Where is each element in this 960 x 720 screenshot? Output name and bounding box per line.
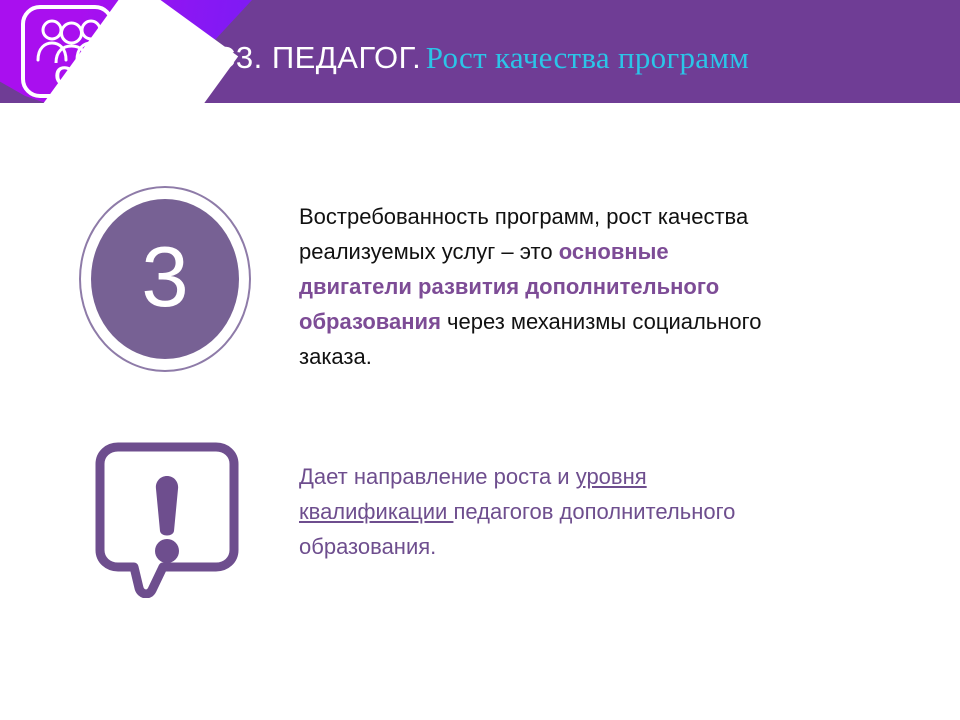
paragraph-2-run-1: Дает направление роста и — [299, 464, 576, 489]
slide-root: С3 С3. ПЕДАГОГ. Рост качества программ 3… — [0, 0, 960, 720]
page-title-main: С3. ПЕДАГОГ. — [213, 40, 421, 75]
body-paragraph-1: Востребованность программ, рост качества… — [299, 199, 769, 374]
circle-number-label: 3 — [79, 186, 251, 372]
speech-bubble-exclamation-icon — [88, 438, 243, 598]
logo-badge: С3 — [21, 5, 114, 98]
logo-caption: С3 — [25, 61, 118, 91]
three-people-icon — [36, 18, 107, 63]
body-paragraph-2: Дает направление роста и уровня квалифик… — [299, 459, 759, 564]
header-band: С3 С3. ПЕДАГОГ. Рост качества программ — [0, 0, 960, 103]
page-title: С3. ПЕДАГОГ. Рост качества программ — [213, 38, 749, 78]
number-circle-badge: 3 — [79, 186, 251, 372]
paragraph-1-run-1: Востребованность программ, рост качества… — [299, 204, 748, 264]
page-title-accent: Рост качества программ — [426, 40, 749, 75]
